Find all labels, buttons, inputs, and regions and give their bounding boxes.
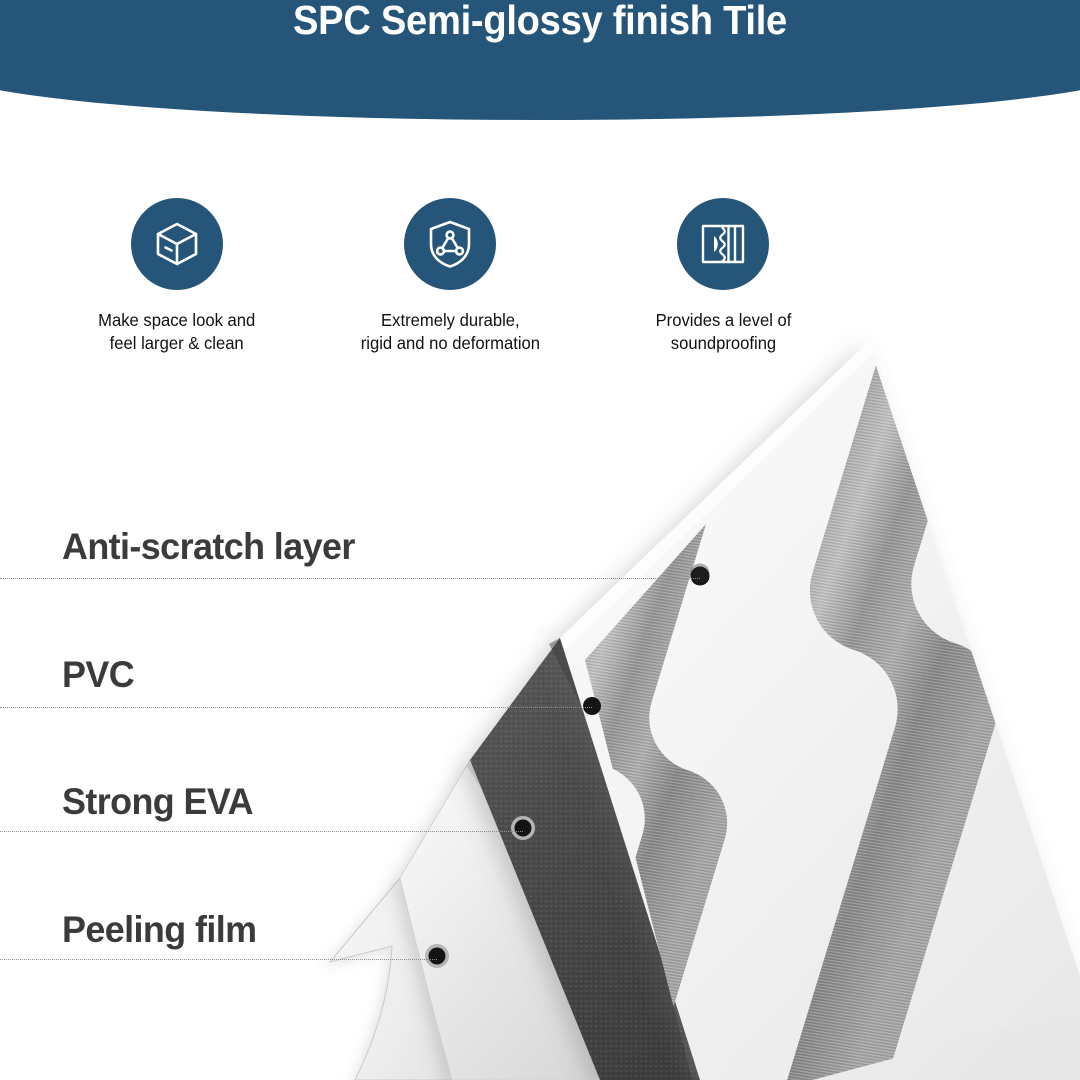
feature-item-space: Make space look and feel larger & clean: [40, 198, 313, 378]
hole-anti-scratch: [691, 564, 710, 586]
feature-item-soundproof: Provides a level of soundproofing: [587, 198, 860, 378]
layer-label: Peeling film: [62, 911, 256, 948]
soundproofing-icon: [698, 219, 748, 269]
feature-icon-circle: [131, 198, 223, 290]
box-3d-icon: [151, 218, 203, 270]
feature-list: Make space look and feel larger & clean …: [40, 198, 860, 378]
feature-caption: Extremely durable, rigid and no deformat…: [360, 309, 539, 355]
hole-pvc: [583, 697, 601, 715]
page-title: SPC Semi-glossy finish Tile: [38, 0, 1042, 41]
feature-item-durable: Extremely durable, rigid and no deformat…: [313, 198, 586, 378]
layer-item-pvc: PVC: [62, 656, 136, 693]
feature-icon-circle: [404, 198, 496, 290]
hole-strong-eva: [511, 816, 535, 840]
page-title-text: SPC Semi-glossy finish Tile: [293, 0, 787, 41]
layer-label: PVC: [62, 656, 134, 693]
layer-item-strong-eva: Strong EVA: [62, 783, 259, 820]
layer-peeling-film: [330, 878, 500, 1080]
layer-item-anti-scratch: Anti-scratch layer: [62, 528, 364, 565]
layer-item-peeling-film: Peeling film: [62, 911, 262, 948]
leader-line-anti-scratch: [0, 578, 700, 579]
feature-caption: Provides a level of soundproofing: [655, 309, 791, 355]
shield-durability-icon: [425, 218, 475, 270]
layer-label: Strong EVA: [62, 783, 253, 820]
leader-line-strong-eva: [0, 831, 523, 832]
feature-icon-circle: [677, 198, 769, 290]
infographic-page: SPC Semi-glossy finish Tile Make space l…: [0, 0, 1080, 1080]
leader-line-peeling-film: [0, 959, 437, 960]
hole-peeling-film: [425, 944, 449, 968]
layer-label: Anti-scratch layer: [62, 528, 355, 565]
layer-pvc: [470, 638, 790, 1080]
layer-strong-eva: [400, 760, 620, 1080]
leader-line-pvc: [0, 707, 592, 708]
feature-caption: Make space look and feel larger & clean: [98, 309, 255, 355]
